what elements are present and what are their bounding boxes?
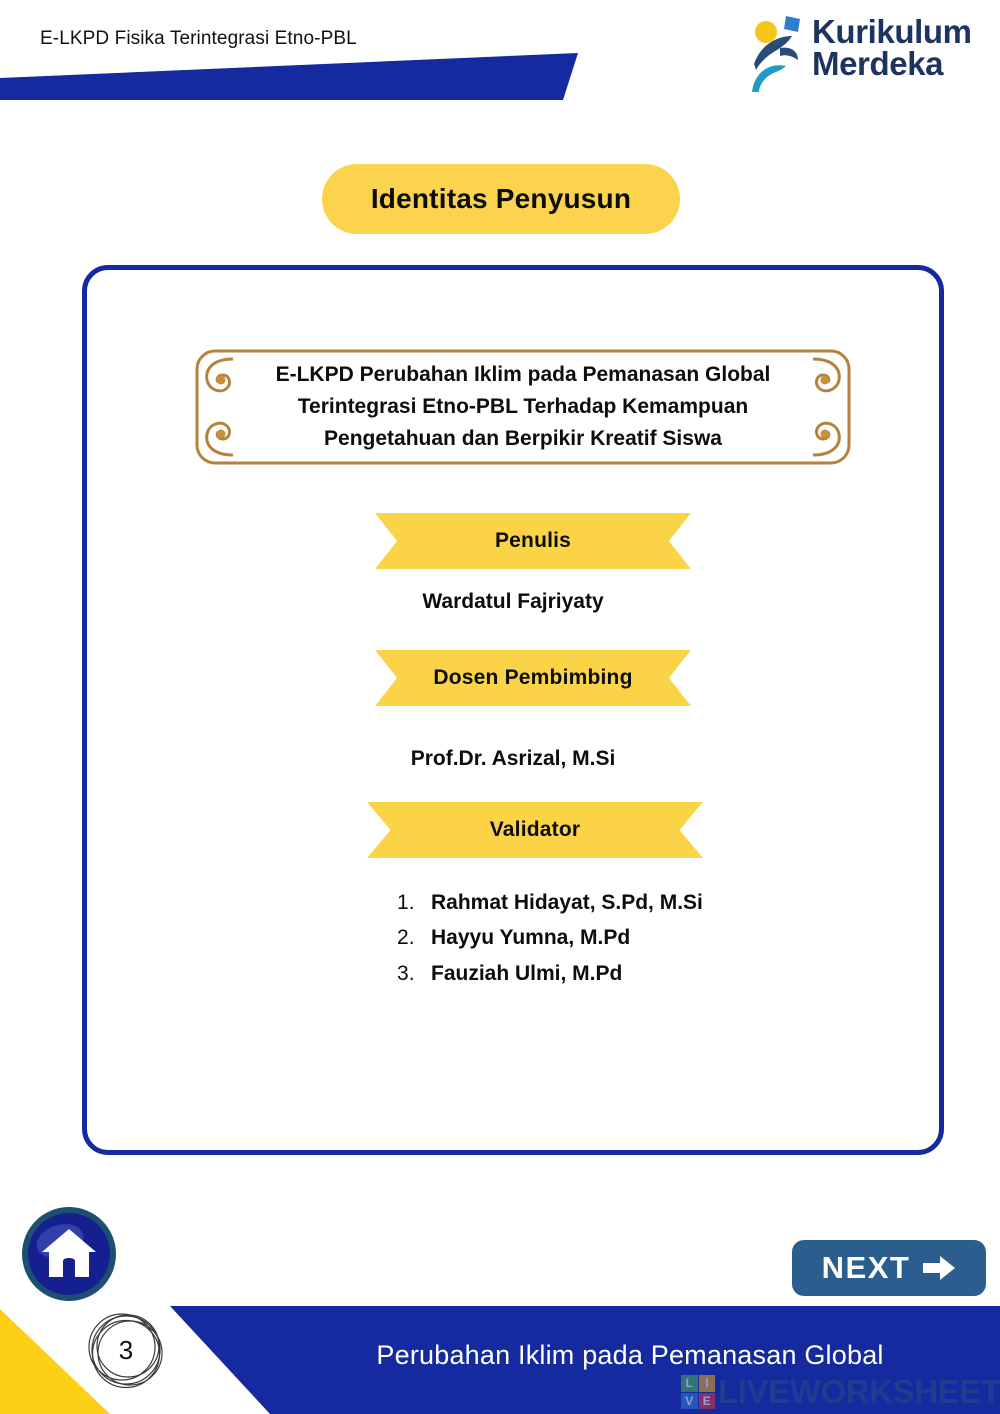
ribbon-validator: Validator [367,802,703,858]
page-header: E-LKPD Fisika Terintegrasi Etno-PBL Kuri… [0,0,1000,120]
next-button[interactable]: NEXT [792,1240,986,1296]
list-item: Hayyu Yumna, M.Pd [397,920,857,955]
dosen-pembimbing-name: Prof.Dr. Asrizal, M.Si [82,747,944,771]
home-button[interactable] [20,1205,118,1303]
validator-list: Rahmat Hidayat, S.Pd, M.Si Hayyu Yumna, … [397,885,857,991]
liveworksheets-logo-icon: L I V E [681,1375,715,1409]
heading-text: E-LKPD Perubahan Iklim pada Pemanasan Gl… [211,359,835,455]
ribbon-validator-label: Validator [490,818,581,842]
page-number-badge: 3 [80,1300,172,1400]
list-item: Rahmat Hidayat, S.Pd, M.Si [397,885,857,920]
arrow-right-icon [922,1254,956,1282]
header-title: E-LKPD Fisika Terintegrasi Etno-PBL [40,28,357,50]
logo-line-2: Merdeka [812,48,972,80]
kurikulum-merdeka-logo: Kurikulum Merdeka [746,12,978,98]
kurikulum-merdeka-wordmark: Kurikulum Merdeka [812,16,972,80]
wm-cell-l: L [681,1375,698,1392]
heading-ornate-frame: E-LKPD Perubahan Iklim pada Pemanasan Gl… [193,347,853,467]
kurikulum-merdeka-mark [746,12,810,94]
ribbon-penulis-label: Penulis [495,529,571,553]
wm-cell-i: I [699,1375,716,1392]
heading-line-2: Terintegrasi Etno-PBL Terhadap Kemampuan [211,391,835,423]
content-card: E-LKPD Perubahan Iklim pada Pemanasan Gl… [82,265,944,1155]
logo-line-1: Kurikulum [812,16,972,48]
page-number-label: 3 [80,1300,172,1400]
section-title-pill: Identitas Penyusun [322,164,680,234]
footer-banner-title: Perubahan Iklim pada Pemanasan Global [300,1340,960,1371]
header-wedge-shape [0,0,600,110]
penulis-name: Wardatul Fajriyaty [82,590,944,614]
heading-line-3: Pengetahuan dan Berpikir Kreatif Siswa [211,423,835,455]
heading-line-1: E-LKPD Perubahan Iklim pada Pemanasan Gl… [211,359,835,391]
wm-cell-v: V [681,1393,698,1410]
ribbon-dosen-pembimbing-label: Dosen Pembimbing [433,666,632,690]
liveworksheets-watermark: L I V E LIVEWORKSHEETS [681,1374,1000,1410]
list-item: Fauziah Ulmi, M.Pd [397,956,857,991]
ribbon-penulis: Penulis [375,513,691,569]
next-button-label: NEXT [822,1250,911,1286]
liveworksheets-watermark-text: LIVEWORKSHEETS [718,1373,1000,1411]
ribbon-dosen-pembimbing: Dosen Pembimbing [375,650,691,706]
wm-cell-e: E [699,1393,716,1410]
section-title-label: Identitas Penyusun [371,183,631,215]
